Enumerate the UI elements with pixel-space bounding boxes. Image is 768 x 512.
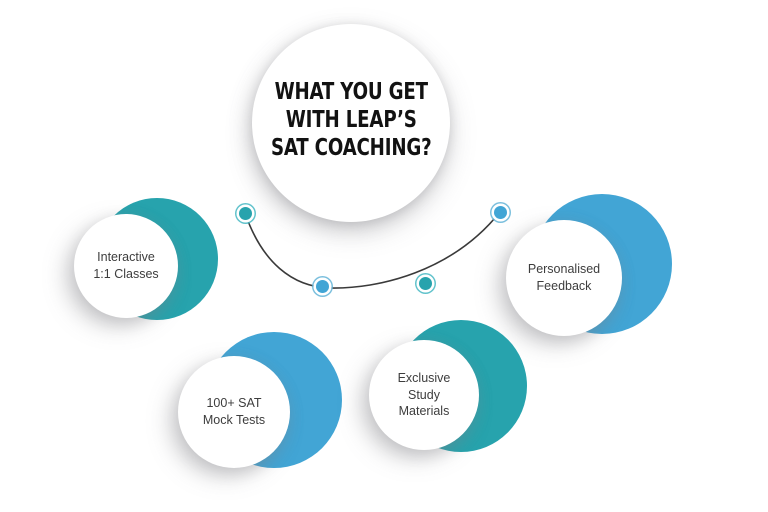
feature-label-mocktests: 100+ SAT Mock Tests: [197, 395, 271, 429]
feature-bubble-materials[interactable]: Exclusive Study Materials: [369, 340, 479, 450]
feature-node-mocktests[interactable]: 100+ SAT Mock Tests: [172, 330, 347, 495]
feature-label-materials-line-1: Exclusive: [398, 370, 451, 387]
feature-label-feedback-line-1: Personalised: [528, 261, 600, 278]
connector-dot-left: [239, 207, 252, 220]
infographic-canvas: WHAT YOU GET WITH LEAP’S SAT COACHING? I…: [0, 0, 768, 512]
feature-label-feedback: Personalised Feedback: [522, 261, 606, 295]
hub-title-line-3: SAT COACHING?: [271, 134, 432, 162]
connector-dot-mid-right: [419, 277, 432, 290]
feature-label-interactive-line-2: 1:1 Classes: [93, 266, 158, 283]
feature-label-materials-line-3: Materials: [398, 403, 451, 420]
hub-title-line-1: WHAT YOU GET: [271, 78, 432, 106]
feature-label-materials: Exclusive Study Materials: [392, 370, 457, 420]
central-hub-circle: WHAT YOU GET WITH LEAP’S SAT COACHING?: [252, 24, 450, 222]
connector-dot-right: [494, 206, 507, 219]
feature-label-mocktests-line-2: Mock Tests: [203, 412, 265, 429]
feature-node-interactive[interactable]: Interactive 1:1 Classes: [70, 196, 220, 346]
feature-label-interactive-line-1: Interactive: [93, 249, 158, 266]
feature-label-materials-line-2: Study: [398, 387, 451, 404]
feature-label-mocktests-line-1: 100+ SAT: [203, 395, 265, 412]
hub-title: WHAT YOU GET WITH LEAP’S SAT COACHING?: [260, 78, 443, 168]
feature-label-interactive: Interactive 1:1 Classes: [87, 249, 164, 283]
feature-node-materials[interactable]: Exclusive Study Materials: [365, 318, 540, 478]
hub-title-line-2: WITH LEAP’S: [271, 106, 432, 134]
connector-path: [245, 212, 500, 288]
connector-dot-mid-left: [316, 280, 329, 293]
feature-bubble-mocktests[interactable]: 100+ SAT Mock Tests: [178, 356, 290, 468]
feature-label-feedback-line-2: Feedback: [528, 278, 600, 295]
feature-bubble-interactive[interactable]: Interactive 1:1 Classes: [74, 214, 178, 318]
